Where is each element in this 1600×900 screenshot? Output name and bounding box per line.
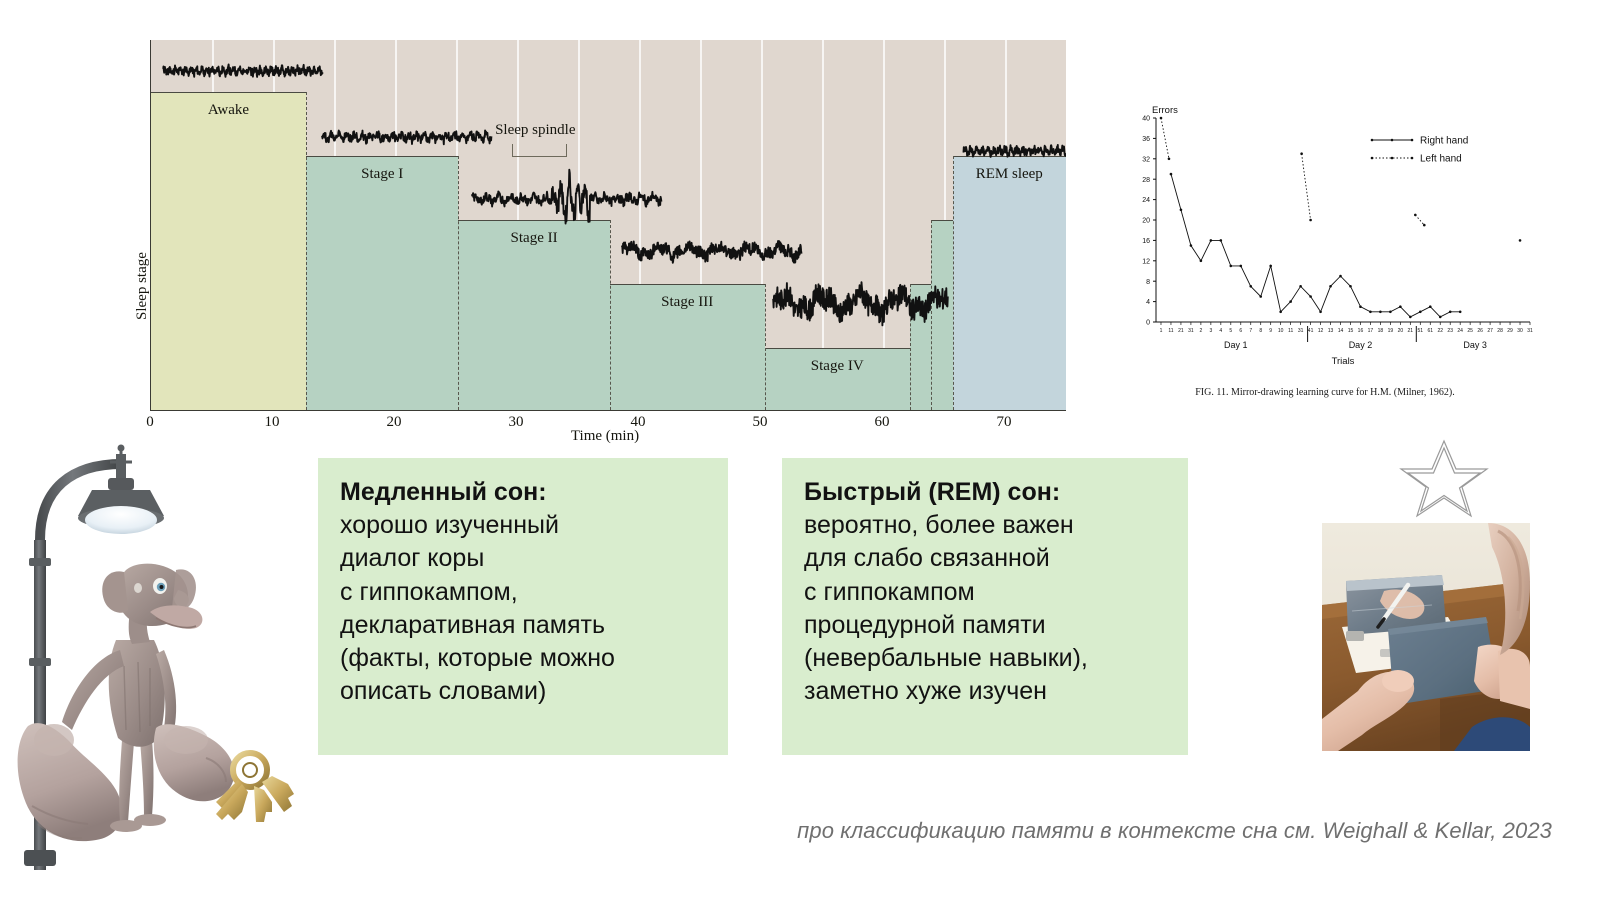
milner-data-point [1168,158,1171,161]
sleep-spindle-bracket [512,144,566,157]
milner-data-point [1160,117,1163,120]
milner-y-tick-label: 12 [1142,258,1150,265]
legend-marker [1411,157,1414,160]
hypnogram-x-tick: 50 [753,414,768,431]
milner-data-point [1419,311,1422,314]
milner-x-tick-label: 4 [1219,328,1222,334]
milner-series-line [1161,118,1169,159]
milner-y-tick-label: 24 [1142,197,1150,204]
milner-data-point [1319,311,1322,314]
milner-x-tick-label: 16 [1358,328,1364,334]
milner-y-tick-label: 28 [1142,177,1150,184]
mirror-drawing-task-photo [1322,523,1530,751]
milner-x-tick-label: 61 [1427,328,1433,334]
eeg-trace [163,64,323,77]
milner-data-point [1459,311,1462,314]
hypnogram-x-tick: 60 [875,414,890,431]
milner-day-label: Day 3 [1463,340,1487,350]
milner-y-tick-label: 36 [1142,136,1150,143]
hypnogram-x-tick: 10 [265,414,280,431]
legend-label-right-hand: Right hand [1420,135,1468,146]
textbox-rem-line-4: процедурной памяти [804,609,1168,642]
milner-x-tick-label: 31 [1298,328,1304,334]
milner-data-point [1220,239,1223,242]
eeg-trace [964,145,1067,157]
hypnogram-x-tick: 0 [146,414,154,431]
milner-x-tick-label: 15 [1348,328,1354,334]
giant-hand-left [18,723,122,841]
star-outline-icon [1392,437,1496,519]
textbox-rem-line-3: с гиппокампом [804,576,1168,609]
textbox-slow-wave-sleep: Медленный сон: хорошо изученный диалог к… [318,458,728,755]
milner-x-tick-label: 26 [1477,328,1483,334]
milner-x-tick-label: 13 [1328,328,1334,334]
hypnogram-x-tick: 70 [997,414,1012,431]
milner-data-point [1300,152,1303,155]
legend-marker [1411,139,1414,142]
hypnogram-x-tick: 40 [631,414,646,431]
hypnogram-x-tick: 20 [387,414,402,431]
milner-data-point [1389,311,1392,314]
milner-x-tick-label: 9 [1269,328,1272,334]
milner-data-point [1379,311,1382,314]
mirror-drawing-plot: 0481216202428323640Errors111213123456789… [1110,100,1540,378]
milner-y-tick-label: 16 [1142,238,1150,245]
legend-label-left-hand: Left hand [1420,153,1462,164]
milner-x-tick-label: 12 [1318,328,1324,334]
milner-data-point [1429,305,1432,308]
milner-y-tick-label: 4 [1146,299,1150,306]
milner-data-point [1349,285,1352,288]
milner-x-tick-label: 10 [1278,328,1284,334]
milner-day-label: Day 2 [1349,340,1373,350]
milner-data-point [1200,260,1203,263]
hypnogram-y-axis-label: Sleep stage [134,252,151,320]
legend-marker [1391,139,1394,142]
milner-data-point [1439,316,1442,319]
milner-data-point [1423,224,1426,227]
milner-data-point [1170,173,1173,176]
milner-x-tick-label: 51 [1418,328,1424,334]
milner-data-point [1259,295,1262,298]
mirror-drawing-caption: FIG. 11. Mirror-drawing learning curve f… [1110,387,1540,398]
legend-marker [1371,139,1374,142]
milner-data-point [1309,219,1312,222]
textbox-rem-line-1: вероятно, более важен [804,509,1168,542]
textbox-slow-line-6: описать словами) [340,675,708,708]
textbox-slow-line-5: (факты, которые можно [340,642,708,675]
hypnogram-figure: Sleep stage AwakeStage IStage IIStage II… [130,30,1080,445]
milner-x-tick-label: 20 [1398,328,1404,334]
milner-data-point [1190,244,1193,247]
milner-data-point [1519,239,1522,242]
eeg-trace [322,130,492,144]
milner-data-point [1210,239,1213,242]
sleep-spindle-label: Sleep spindle [495,122,575,139]
textbox-slow-line-4: декларативная память [340,609,708,642]
milner-data-point [1414,214,1417,217]
textbox-rem-sleep: Быстрый (REM) сон: вероятно, более важен… [782,458,1188,755]
milner-x-tick-label: 22 [1437,328,1443,334]
milner-x-tick-label: 28 [1497,328,1503,334]
milner-x-tick-label: 3 [1209,328,1212,334]
milner-x-tick-label: 31 [1188,328,1194,334]
textbox-slow-line-2: диалог коры [340,542,708,575]
milner-data-point [1359,305,1362,308]
milner-x-tick-label: 11 [1168,328,1173,334]
milner-x-tick-label: 23 [1447,328,1453,334]
milner-y-tick-label: 40 [1142,116,1150,123]
legend-marker [1391,157,1394,160]
eeg-trace [773,282,948,325]
hypnogram-x-tick: 30 [509,414,524,431]
milner-x-tick-label: 21 [1408,328,1414,334]
milner-data-point [1339,275,1342,278]
milner-data-point [1449,311,1452,314]
milner-data-point [1299,285,1302,288]
milner-x-tick-label: 30 [1517,328,1523,334]
eeg-trace [622,241,802,263]
milner-x-tick-label: 27 [1487,328,1493,334]
milner-data-point [1329,285,1332,288]
milner-y-axis-label: Errors [1152,105,1178,116]
milner-x-tick-label: 2 [1199,328,1202,334]
textbox-rem-title: Быстрый (REM) сон: [804,476,1168,508]
milner-x-tick-label: 14 [1338,328,1344,334]
textbox-slow-line-1: хорошо изученный [340,509,708,542]
milner-x-tick-label: 11 [1288,328,1293,334]
milner-y-tick-label: 0 [1146,320,1150,327]
giant-hand-right [154,724,235,801]
milner-data-point [1289,300,1292,303]
milner-y-tick-label: 8 [1146,279,1150,286]
milner-x-axis-label: Trials [1332,356,1355,367]
milner-day-label: Day 1 [1224,340,1248,350]
textbox-rem-line-2: для слабо связанной [804,542,1168,575]
milner-x-tick-label: 17 [1368,328,1374,334]
milner-data-point [1309,295,1312,298]
milner-data-point [1399,305,1402,308]
milner-y-tick-label: 32 [1142,156,1150,163]
milner-x-tick-label: 7 [1249,328,1252,334]
milner-x-tick-label: 1 [1160,328,1163,334]
dobby-creature-illustration [10,440,310,880]
milner-data-point [1409,316,1412,319]
milner-x-tick-label: 25 [1467,328,1473,334]
milner-x-tick-label: 8 [1259,328,1262,334]
milner-y-tick-label: 20 [1142,218,1150,225]
milner-x-tick-label: 18 [1378,328,1384,334]
milner-data-point [1269,265,1272,268]
milner-series-line [1171,174,1460,317]
milner-x-tick-label: 29 [1507,328,1513,334]
textbox-rem-line-6: заметно хуже изучен [804,675,1168,708]
milner-data-point [1239,265,1242,268]
milner-data-point [1230,265,1233,268]
milner-x-tick-label: 6 [1239,328,1242,334]
milner-data-point [1249,285,1252,288]
eeg-trace [472,170,662,224]
milner-x-tick-label: 31 [1527,328,1533,334]
milner-data-point [1369,311,1372,314]
milner-x-tick-label: 19 [1388,328,1394,334]
textbox-slow-title: Медленный сон: [340,476,708,508]
hypnogram-eeg-traces [151,40,1066,410]
mirror-drawing-figure: 0481216202428323640Errors111213123456789… [1110,100,1540,400]
milner-series-line [1415,215,1424,225]
milner-x-tick-label: 24 [1457,328,1463,334]
hypnogram-plot-area: AwakeStage IStage IIStage IIIStage IVREM… [150,40,1066,411]
textbox-slow-line-3: с гиппокампом, [340,576,708,609]
milner-data-point [1180,209,1183,212]
milner-x-tick-label: 21 [1178,328,1184,334]
legend-marker [1371,157,1374,160]
milner-data-point [1279,311,1282,314]
milner-series-line [1302,154,1311,220]
textbox-rem-line-5: (невербальные навыки), [804,642,1168,675]
milner-x-tick-label: 5 [1229,328,1232,334]
milner-x-tick-label: 41 [1308,328,1314,334]
